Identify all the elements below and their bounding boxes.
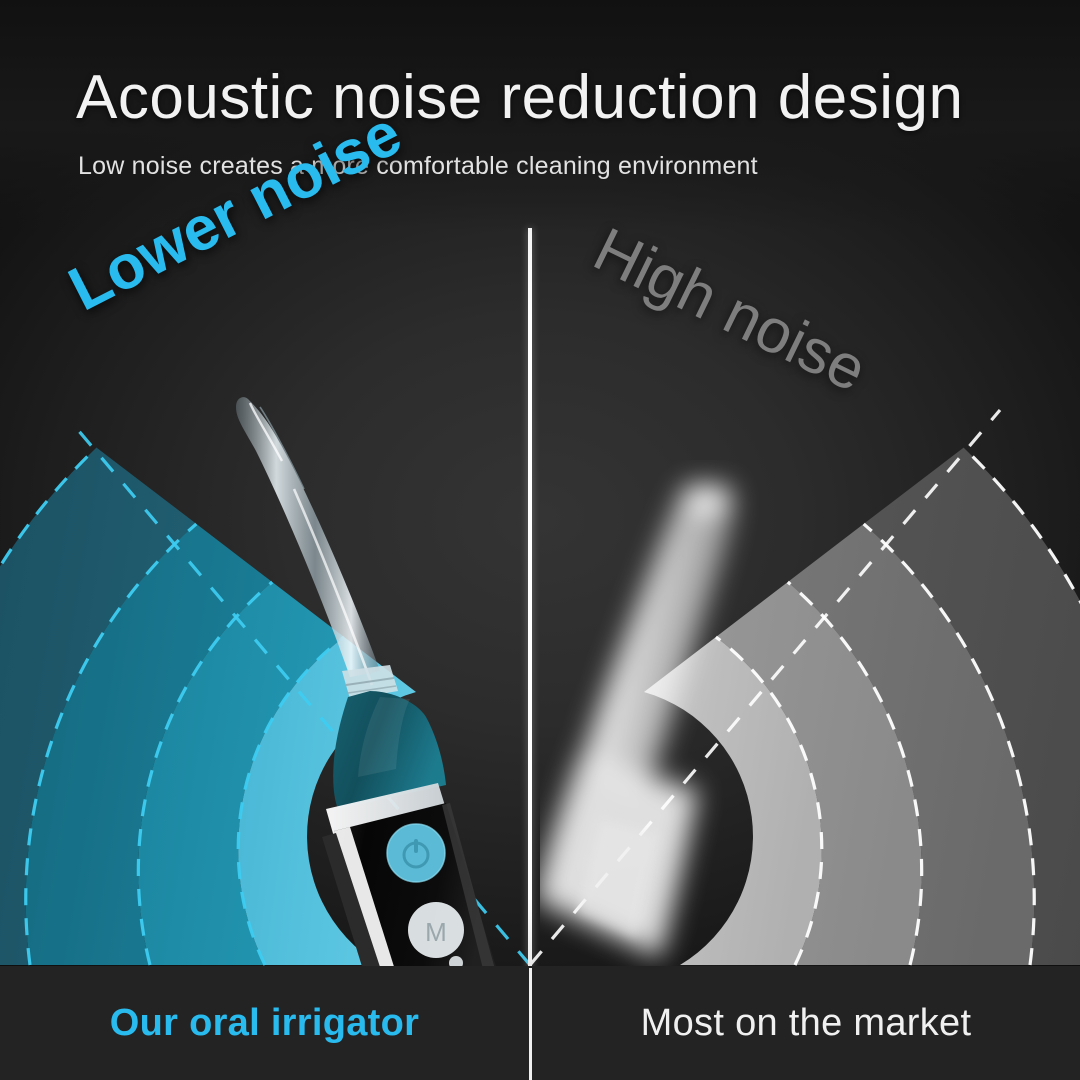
comparison-divider <box>528 228 532 973</box>
caption-market-product: Most on the market <box>532 966 1080 1080</box>
page-headline: Acoustic noise reduction design <box>76 62 1016 133</box>
mode-button-glyph: M <box>425 917 447 947</box>
mode-button[interactable]: M <box>408 902 464 958</box>
nozzle-tube <box>236 397 380 685</box>
competitor-device-blurred <box>540 460 840 980</box>
noise-comparison-infographic: M Acoustic noise reduction design Low no… <box>0 0 1080 1080</box>
caption-our-product: Our oral irrigator <box>0 966 529 1080</box>
power-button[interactable] <box>387 824 445 882</box>
oral-irrigator-device: M <box>230 385 530 975</box>
page-subheadline: Low noise creates a more comfortable cle… <box>78 152 1018 181</box>
